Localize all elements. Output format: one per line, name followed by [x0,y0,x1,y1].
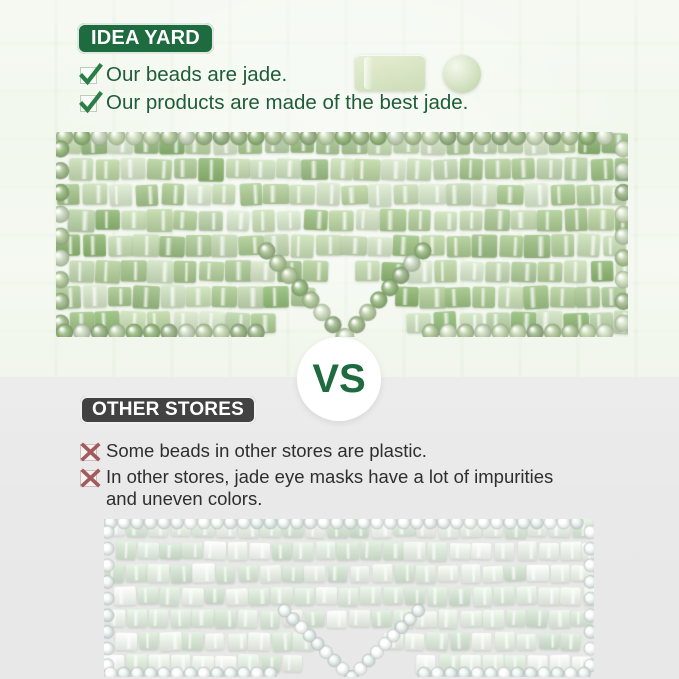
pros-list: Our beads are jade. Our products are mad… [80,63,600,119]
cross-icon [80,470,97,487]
jade-eye-mask-premium [56,132,628,337]
pro-bullet-1-label: Our beads are jade. [106,63,287,87]
other-stores-badge: OTHER STORES [80,396,256,424]
cons-list: Some beads in other stores are plastic. … [80,440,560,513]
jade-sample-tile [355,55,425,91]
jade-eye-mask-other-stores [104,519,594,677]
comparison-infographic: IDEA YARD Our beads are jade. Our produc… [0,0,679,679]
cross-icon [80,444,97,461]
pro-bullet-1: Our beads are jade. [80,63,600,87]
pro-bullet-2: Our products are made of the best jade. [80,91,600,115]
versus-badge: VS [297,337,381,421]
con-bullet-1-label: Some beads in other stores are plastic. [106,440,427,462]
check-icon [80,95,97,112]
con-bullet-2: In other stores, jade eye masks have a l… [80,466,560,510]
con-bullet-2-label: In other stores, jade eye masks have a l… [106,466,560,510]
con-bullet-1: Some beads in other stores are plastic. [80,440,560,462]
check-icon [80,67,97,84]
pro-bullet-2-label: Our products are made of the best jade. [106,91,468,115]
jade-sample-bead [443,55,481,93]
idea-yard-badge: IDEA YARD [77,23,214,54]
